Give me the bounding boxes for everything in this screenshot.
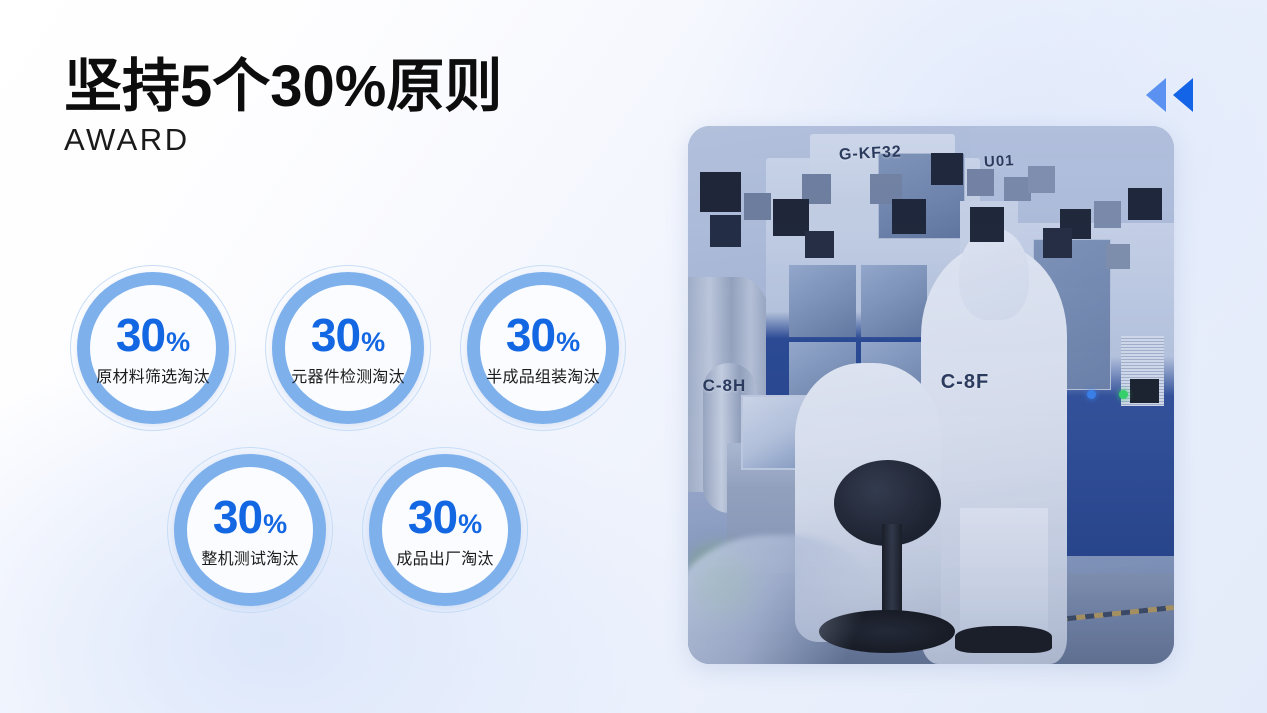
percent-number: 30 — [213, 494, 262, 540]
stat-circle-group: 30 % 原材料筛选淘汰 30 % 元器件检测淘汰 30 % 半成品组装淘汰 — [0, 0, 680, 713]
stat-circle-2[interactable]: 30 % 元器件检测淘汰 — [265, 265, 431, 431]
percent-sign: % — [556, 329, 580, 356]
stat-circle-3[interactable]: 30 % 半成品组装淘汰 — [460, 265, 626, 431]
percent-sign: % — [361, 329, 385, 356]
circle-label: 原材料筛选淘汰 — [96, 363, 209, 387]
circle-label: 整机测试淘汰 — [201, 545, 298, 569]
photo-label-c-8h: C-8H — [703, 376, 747, 396]
photo-label-c-8f: C-8F — [941, 371, 989, 394]
circle-label: 成品出厂淘汰 — [396, 545, 493, 569]
percent-sign: % — [166, 329, 190, 356]
circle-content: 30 % 元器件检测淘汰 — [265, 265, 431, 431]
circle-content: 30 % 原材料筛选淘汰 — [70, 265, 236, 431]
photo-led-green-indicator — [1119, 390, 1128, 399]
percent-value-row: 30 % — [408, 494, 482, 540]
photo-led-blue-indicator — [1087, 390, 1096, 399]
photo-label-u01: U01 — [984, 152, 1015, 171]
circle-content: 30 % 半成品组装淘汰 — [460, 265, 626, 431]
percent-number: 30 — [116, 312, 165, 358]
percent-number: 30 — [506, 312, 555, 358]
circle-content: 30 % 整机测试淘汰 — [167, 447, 333, 613]
stat-circle-4[interactable]: 30 % 整机测试淘汰 — [167, 447, 333, 613]
percent-value-row: 30 % — [213, 494, 287, 540]
percent-value-row: 30 % — [311, 312, 385, 358]
photo-label-g-kf32: G-KF32 — [838, 143, 902, 164]
percent-number: 30 — [311, 312, 360, 358]
percent-value-row: 30 % — [506, 312, 580, 358]
rewind-arrow-dark-icon[interactable] — [1173, 78, 1193, 112]
rewind-arrows[interactable] — [1146, 78, 1193, 112]
circle-label: 元器件检测淘汰 — [291, 363, 404, 387]
circle-content: 30 % 成品出厂淘汰 — [362, 447, 528, 613]
rewind-arrow-light-icon[interactable] — [1146, 78, 1166, 112]
percent-number: 30 — [408, 494, 457, 540]
percent-sign: % — [263, 511, 287, 538]
photo-scene: G-KF32 U01 C-8H C-8F — [688, 126, 1174, 664]
stat-circle-1[interactable]: 30 % 原材料筛选淘汰 — [70, 265, 236, 431]
percent-value-row: 30 % — [116, 312, 190, 358]
percent-sign: % — [458, 511, 482, 538]
cleanroom-photo: G-KF32 U01 C-8H C-8F — [688, 126, 1174, 664]
stat-circle-5[interactable]: 30 % 成品出厂淘汰 — [362, 447, 528, 613]
photo-blue-tint — [688, 126, 1174, 664]
circle-label: 半成品组装淘汰 — [486, 363, 599, 387]
